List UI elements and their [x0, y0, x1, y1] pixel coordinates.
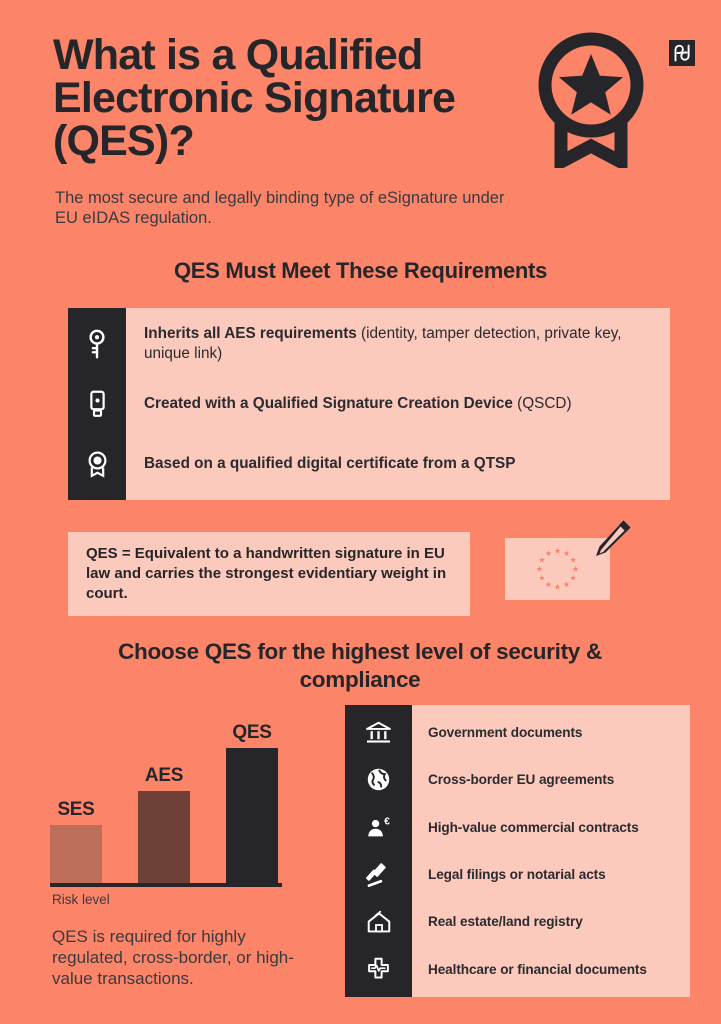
bar-column: AES [138, 765, 190, 883]
requirement-item: Based on a qualified digital certificate… [144, 434, 650, 494]
key-icon [68, 314, 126, 374]
bar-label: SES [57, 799, 94, 821]
page-subtitle: The most secure and legally binding type… [55, 188, 505, 229]
bar-aes [138, 791, 190, 883]
use-case-item: High-value commercial contracts [428, 804, 680, 851]
pandadoc-logo [669, 40, 695, 66]
page-title: What is a Qualified Electronic Signature… [53, 34, 523, 163]
bar-ses [50, 825, 102, 883]
seal-rosette-icon [68, 434, 126, 494]
chart-note: QES is required for highly regulated, cr… [52, 926, 322, 989]
equivalence-callout-text: QES = Equivalent to a handwritten signat… [86, 544, 452, 604]
use-case-item: Healthcare or financial documents [428, 946, 680, 993]
bar-label: QES [232, 722, 271, 744]
bar-column: QES [226, 722, 278, 883]
use-cases-list: Government documents Cross-border EU agr… [412, 705, 690, 997]
use-case-item: Legal filings or notarial acts [428, 851, 680, 898]
requirements-icon-column [68, 308, 126, 500]
gavel-icon [345, 851, 412, 898]
pen-icon [587, 515, 635, 563]
bar-label: AES [145, 765, 183, 787]
requirements-list: Inherits all AES requirements (identity,… [126, 308, 670, 500]
chart-axis-line [50, 883, 282, 887]
medical-cross-icon [345, 946, 412, 993]
use-case-item: Cross-border EU agreements [428, 756, 680, 803]
chart-axis-caption: Risk level [52, 892, 110, 907]
globe-icon [345, 756, 412, 803]
award-badge-star-icon [531, 28, 651, 168]
requirement-item: Created with a Qualified Signature Creat… [144, 374, 650, 434]
usb-token-icon [68, 374, 126, 434]
requirement-item-rest: (QSCD) [513, 395, 572, 412]
requirements-panel: Inherits all AES requirements (identity,… [68, 308, 670, 500]
use-case-item: Real estate/land registry [428, 898, 680, 945]
bar-column: SES [50, 799, 102, 883]
requirement-item-bold: Based on a qualified digital certificate… [144, 455, 515, 472]
house-icon [345, 898, 412, 945]
bar-qes [226, 748, 278, 883]
infographic-page: What is a Qualified Electronic Signature… [0, 0, 721, 1024]
person-euro-icon: € [345, 804, 412, 851]
equivalence-callout: QES = Equivalent to a handwritten signat… [68, 532, 470, 616]
requirement-item-bold: Inherits all AES requirements [144, 325, 357, 342]
bank-icon [345, 709, 412, 756]
use-cases-panel: € [345, 705, 690, 997]
chart-bars: SES AES QES [50, 743, 282, 883]
use-case-item: Government documents [428, 709, 680, 756]
use-cases-icon-column: € [345, 705, 412, 997]
choose-heading: Choose QES for the highest level of secu… [80, 638, 640, 694]
requirements-heading: QES Must Meet These Requirements [0, 258, 721, 284]
eu-flag-with-pen [505, 515, 635, 620]
requirement-item: Inherits all AES requirements (identity,… [144, 314, 650, 374]
svg-text:€: € [384, 817, 390, 828]
risk-level-bar-chart: SES AES QES [50, 705, 282, 887]
requirement-item-bold: Created with a Qualified Signature Creat… [144, 395, 513, 412]
